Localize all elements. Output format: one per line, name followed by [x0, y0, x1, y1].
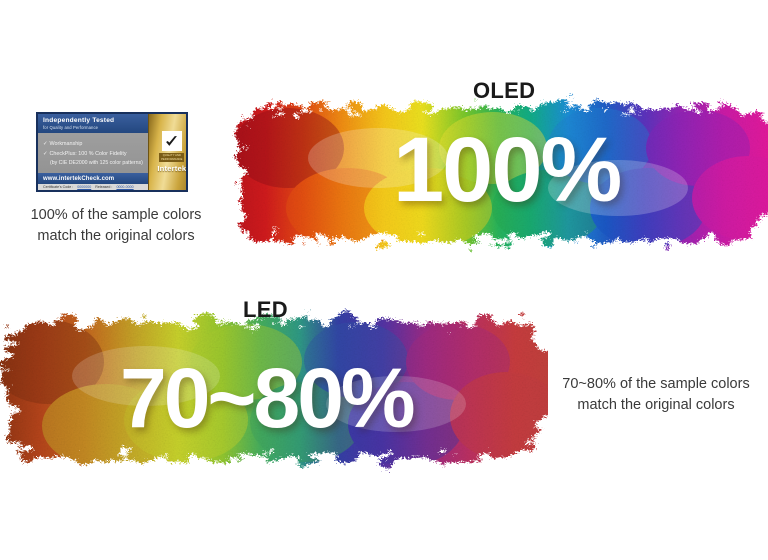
check-icon: ✓ [43, 151, 48, 158]
certificate-check-label: Workmanship [50, 141, 83, 148]
certificate-body: Independently Tested for Quality and Per… [38, 114, 148, 190]
oled-caption-line-1: 100% of the sample colors [28, 205, 204, 226]
certificate-released-value: 0000-0000 [116, 185, 133, 189]
intertek-mark-panel: QUALITY AND PERFORMANCE Intertek [148, 114, 188, 190]
certificate-check-item: ✓ Workmanship [43, 141, 143, 148]
certificate-check-label: CheckPlus: 100 % Color Fidelity [50, 151, 127, 158]
oled-caption-line-2: match the original colors [28, 226, 204, 247]
certificate-url[interactable]: www.intertekCheck.com [38, 173, 148, 184]
panel-title-oled: OLED [473, 78, 535, 104]
certificate-header-title: Independently Tested [43, 117, 143, 124]
check-icon: ✓ [43, 141, 48, 148]
intertek-strapline-line-2: PERFORMANCE [161, 158, 182, 161]
led-caption-line-1: 70~80% of the sample colors [552, 374, 760, 395]
certificate-released-label: Released : [95, 185, 112, 189]
certificate-checklist: ✓ Workmanship ✓ CheckPlus: 100 % Color F… [38, 133, 148, 173]
led-caption-line-2: match the original colors [552, 395, 760, 416]
intertek-strapline: QUALITY AND PERFORMANCE [159, 153, 184, 161]
certificate-code-label: Certificate's Code : [43, 185, 73, 189]
certificate-footer: Certificate's Code : 0000000 Released : … [38, 184, 148, 190]
certificate-header-subtitle: for Quality and Performance [43, 125, 143, 130]
oled-percent-value: 100% [393, 124, 620, 216]
certificate-check-item: ✓ CheckPlus: 100 % Color Fidelity [43, 151, 143, 158]
intertek-brand-name: Intertek [157, 164, 186, 173]
oled-caption: 100% of the sample colors match the orig… [28, 205, 204, 247]
led-percent-value: 70~80% [120, 356, 413, 440]
led-caption: 70~80% of the sample colors match the or… [552, 374, 760, 416]
certificate-code-value: 0000000 [77, 185, 91, 189]
checkmark-icon [162, 131, 182, 151]
intertek-certificate: Independently Tested for Quality and Per… [36, 112, 188, 192]
comparison-graphic: OLED 100% 100% of the sample colors matc… [0, 0, 768, 560]
panel-title-led: LED [243, 297, 288, 323]
certificate-header: Independently Tested for Quality and Per… [38, 114, 148, 133]
certificate-check-note: (by CIE DE2000 with 125 color patterns) [43, 160, 143, 167]
